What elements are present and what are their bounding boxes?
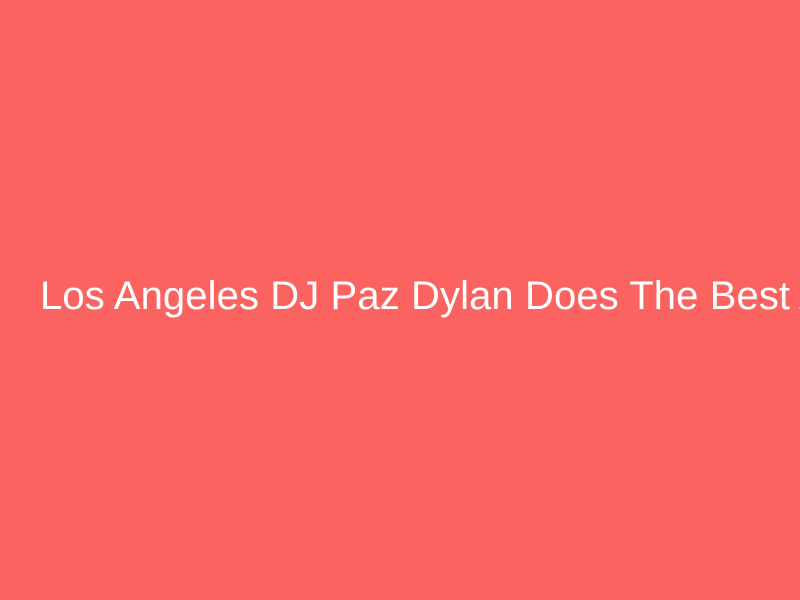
headline-block: Los Angeles DJ Paz Dylan Does The Best A… (0, 273, 800, 319)
headline-text: Los Angeles DJ Paz Dylan Does The Best A… (40, 273, 760, 319)
placeholder-image-card: Los Angeles DJ Paz Dylan Does The Best A… (0, 0, 800, 600)
